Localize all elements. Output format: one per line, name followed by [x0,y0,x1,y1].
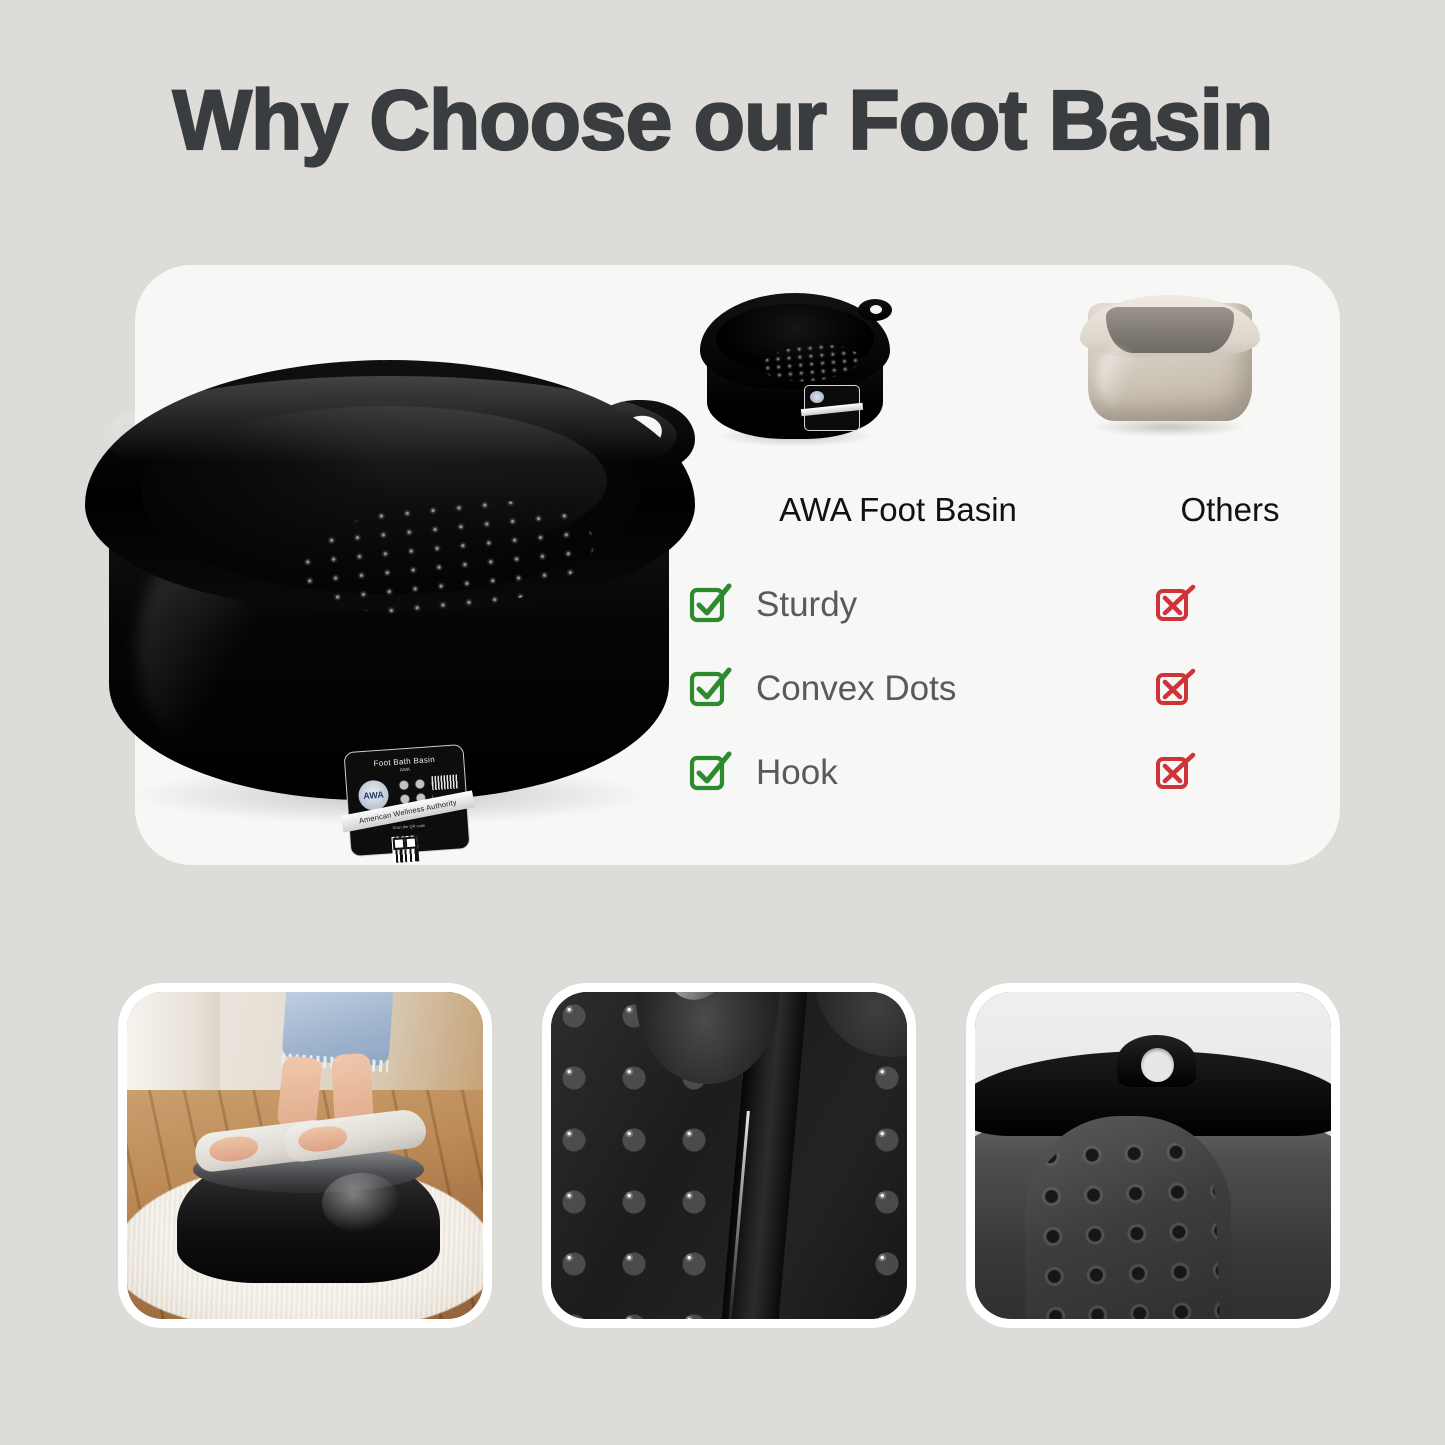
feature-label: Sturdy [756,583,857,627]
feature-row: Hook [688,749,1308,809]
check-icon [688,581,732,625]
column-header-awa: AWA Foot Basin [698,491,1098,529]
hook-detail-photo [975,992,1331,1319]
thumb-product-label [804,385,860,431]
check-icon [688,749,732,793]
hero-product-image: Foot Bath Basin AWA AWA American Wellnes… [40,295,740,835]
feet-on-basin-photo [127,992,483,1319]
feature-label: Hook [756,751,838,795]
cross-icon [1153,749,1197,793]
awa-product-thumbnail [700,293,890,441]
feature-label: Convex Dots [756,667,956,711]
cross-icon [1153,581,1197,625]
hook-hole-icon [1141,1048,1175,1082]
column-header-others: Others [1080,491,1380,529]
gallery-photo-card [118,983,492,1328]
feature-row: Convex Dots [688,665,1308,725]
barcode-icon [431,774,458,790]
convex-dots-photo [551,992,907,1319]
check-icon [688,665,732,709]
cross-icon [1153,665,1197,709]
feature-row: Sturdy [688,581,1308,641]
product-label: Foot Bath Basin AWA AWA American Wellnes… [343,744,470,857]
qr-code-icon [392,835,420,863]
gallery-photo-card [542,983,916,1328]
page-title: Why Choose our Foot Basin [0,78,1445,162]
hero-basin-graphic: Foot Bath Basin AWA AWA American Wellnes… [85,360,695,810]
comparison-card: Foot Bath Basin AWA AWA American Wellnes… [135,265,1340,865]
gallery-photo-card [966,983,1340,1328]
others-product-thumbnail [1080,295,1260,435]
